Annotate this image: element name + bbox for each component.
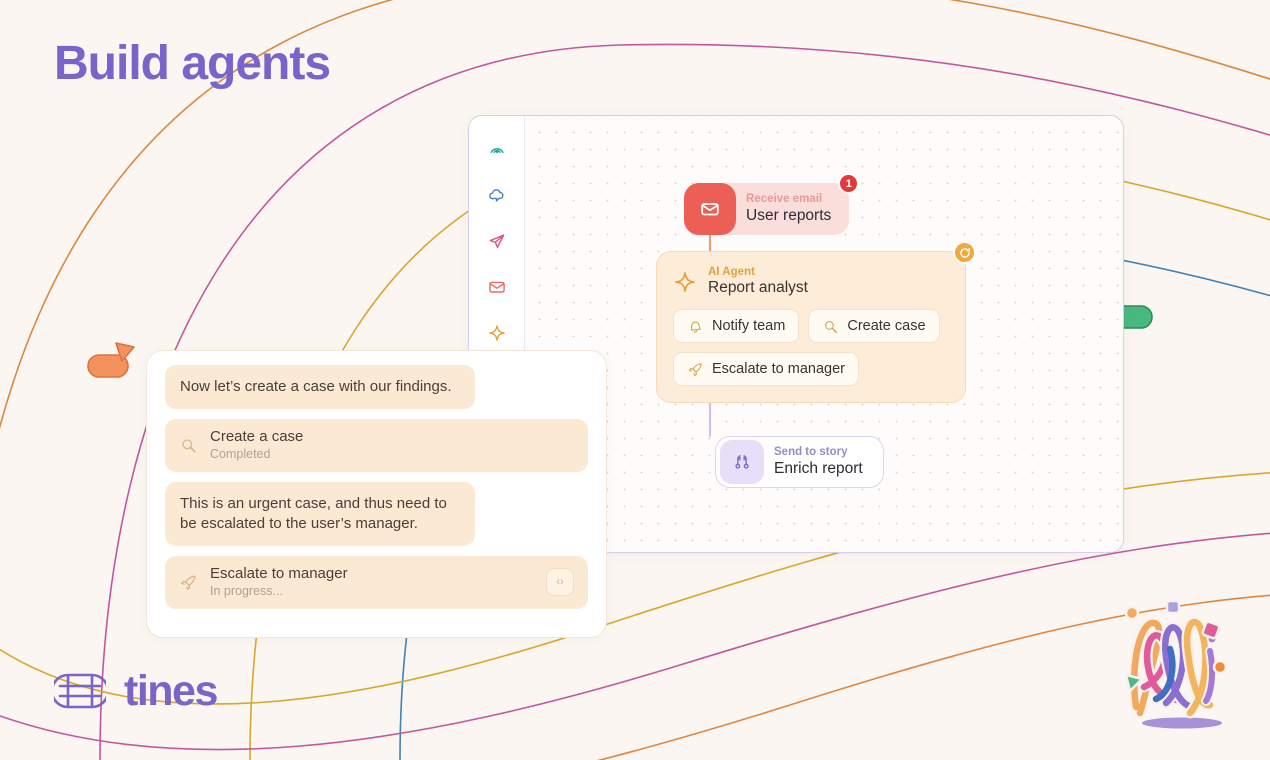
- brand-logo: tines: [54, 665, 217, 717]
- broadcast-icon: [487, 139, 507, 159]
- running-status-badge: [953, 241, 976, 264]
- decoration-orange-shapes: [86, 335, 150, 383]
- sidebar-item-send[interactable]: [482, 226, 512, 256]
- node-title: Report analyst: [708, 279, 808, 297]
- rocket-icon: [687, 361, 704, 378]
- tines-logo-icon: [54, 665, 106, 717]
- node-icon-envelope: [684, 183, 736, 235]
- agent-tool-notify-team[interactable]: Notify team: [673, 309, 799, 343]
- sparkle-icon: [673, 270, 697, 294]
- brand-name: tines: [124, 667, 217, 716]
- tool-run-name: Escalate to manager: [210, 565, 348, 584]
- node-kicker: Send to story: [774, 446, 863, 459]
- sidebar-item-broadcast[interactable]: [482, 134, 512, 164]
- node-icon-story: [720, 440, 764, 484]
- sparkle-icon: [487, 323, 507, 343]
- node-kicker: AI Agent: [708, 266, 808, 279]
- agent-header: AI Agent Report analyst: [673, 266, 949, 297]
- agent-tool-escalate-to-manager[interactable]: Escalate to manager: [673, 352, 859, 386]
- decorative-squiggle-art: [1110, 595, 1250, 745]
- magnifier-icon: [179, 436, 198, 455]
- agent-tool-label: Notify team: [712, 318, 785, 334]
- node-ai-agent[interactable]: AI Agent Report analyst Notify team: [656, 251, 966, 403]
- tool-run-status: Completed: [210, 447, 303, 463]
- chat-message: This is an urgent case, and thus need to…: [165, 482, 475, 547]
- agent-tool-create-case[interactable]: Create case: [808, 309, 939, 343]
- node-send-to-story[interactable]: Send to story Enrich report: [715, 436, 884, 488]
- bell-icon: [687, 318, 704, 335]
- rocket-icon: [179, 573, 198, 592]
- tool-run-name: Create a case: [210, 428, 303, 447]
- agent-tool-label: Escalate to manager: [712, 361, 845, 377]
- agent-tool-list: Notify team Create case Escalate: [673, 309, 949, 386]
- paper-plane-icon: [487, 231, 507, 251]
- spinner-icon: [958, 246, 972, 260]
- magnifier-icon: [822, 318, 839, 335]
- page-title: Build agents: [54, 36, 330, 91]
- cloud-chat-icon: [487, 185, 507, 205]
- node-title: User reports: [746, 207, 831, 225]
- tool-run-escalate-to-manager[interactable]: Escalate to manager In progress... ‹›: [165, 556, 588, 608]
- view-code-button[interactable]: ‹›: [546, 568, 574, 596]
- tool-run-status: In progress...: [210, 584, 348, 600]
- node-title: Enrich report: [774, 460, 863, 478]
- envelope-icon: [699, 198, 721, 220]
- agent-activity-panel: Now let’s create a case with our finding…: [146, 350, 607, 638]
- tool-run-create-a-case[interactable]: Create a case Completed: [165, 419, 588, 471]
- node-receive-email[interactable]: Receive email User reports 1: [684, 183, 849, 235]
- workflow-canvas[interactable]: Receive email User reports 1 AI Agent Re…: [525, 116, 1123, 552]
- sidebar-item-email[interactable]: [482, 272, 512, 302]
- chat-message: Now let’s create a case with our finding…: [165, 365, 475, 409]
- sidebar-item-ai-agent[interactable]: [482, 318, 512, 348]
- story-flow-icon: [732, 452, 752, 472]
- node-kicker: Receive email: [746, 193, 831, 206]
- envelope-icon: [487, 277, 507, 297]
- agent-tool-label: Create case: [847, 318, 925, 334]
- sidebar-item-chat[interactable]: [482, 180, 512, 210]
